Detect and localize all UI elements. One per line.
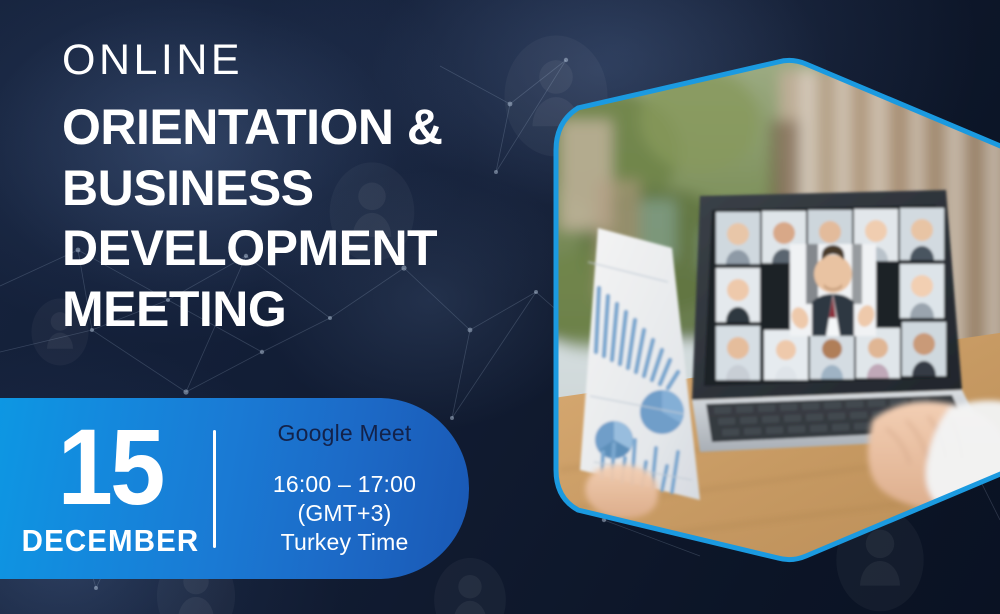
time-range: 16:00 – 17:00 bbox=[273, 470, 416, 499]
day-number: 15 bbox=[58, 421, 163, 514]
hexagon-photo-content bbox=[530, 40, 1000, 580]
details-column: Google Meet 16:00 – 17:00 (GMT+3) Turkey… bbox=[216, 420, 469, 557]
video-call-participant-grid bbox=[716, 208, 946, 380]
event-info-panel: 15 DECEMBER Google Meet 16:00 – 17:00 (G… bbox=[0, 398, 469, 579]
timezone-offset: (GMT+3) bbox=[297, 499, 391, 528]
headline-line-3: DEVELOPMENT bbox=[62, 218, 532, 279]
headline-line-2: BUSINESS bbox=[62, 158, 532, 219]
month-name: DECEMBER bbox=[22, 525, 200, 556]
kicker-text: ONLINE bbox=[62, 38, 532, 83]
timezone-name: Turkey Time bbox=[281, 528, 409, 557]
headline-line-1: ORIENTATION & bbox=[62, 97, 532, 158]
platform-name: Google Meet bbox=[278, 420, 412, 448]
headline-line-4: MEETING bbox=[62, 279, 532, 340]
headline-block: ONLINE ORIENTATION & BUSINESS DEVELOPMEN… bbox=[62, 38, 532, 339]
date-column: 15 DECEMBER bbox=[0, 421, 213, 557]
main-speaker-tile bbox=[789, 244, 877, 336]
event-banner: ONLINE ORIENTATION & BUSINESS DEVELOPMEN… bbox=[0, 0, 1000, 614]
